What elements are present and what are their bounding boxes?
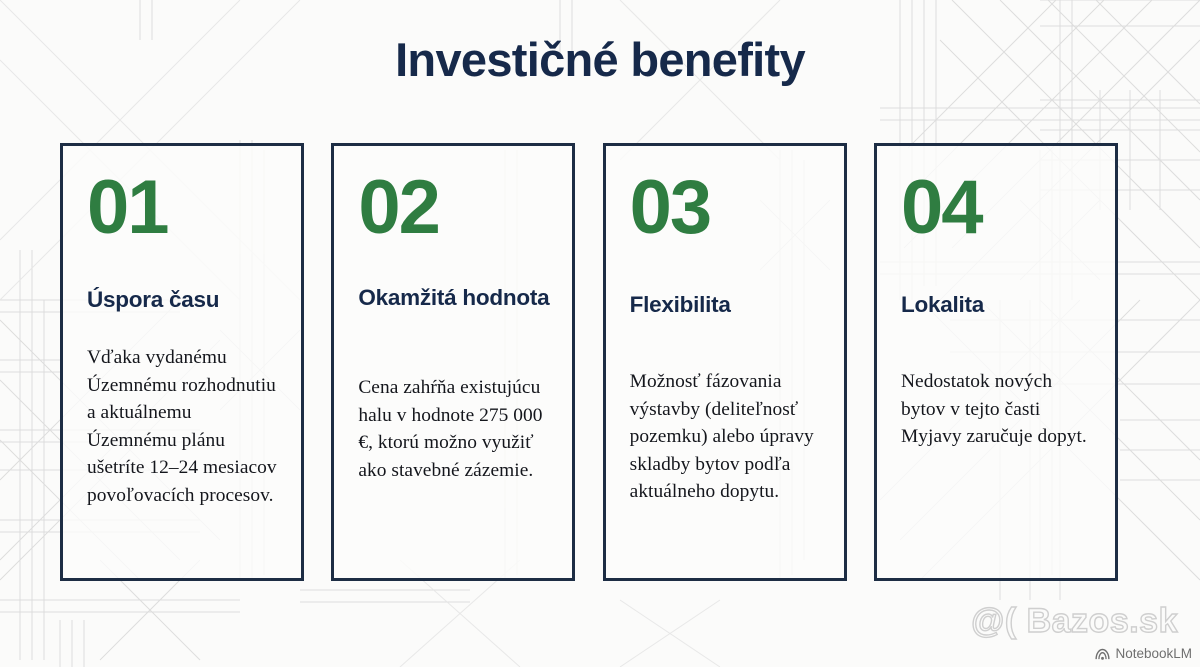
card-heading: Úspora času [87,284,287,315]
bazos-watermark: @( Bazos.sk [971,602,1178,640]
card-content: 01 Úspora času Vďaka vydanému Územnému r… [87,146,287,578]
card-number: 04 [901,164,982,252]
card-number: 01 [87,164,168,252]
card-content: 02 Okamžitá hodnota Cena zahŕňa existujú… [358,146,558,578]
benefit-card-3: 03 Flexibilita Možnosť fázovania výstavb… [603,143,847,581]
card-heading: Okamžitá hodnota [358,282,558,313]
benefit-card-2: 02 Okamžitá hodnota Cena zahŕňa existujú… [331,143,575,581]
card-heading: Lokalita [901,289,1101,320]
notebooklm-icon [1095,647,1110,661]
benefit-card-1: 01 Úspora času Vďaka vydanému Územnému r… [60,143,304,581]
benefit-cards-row: 01 Úspora času Vďaka vydanému Územnému r… [60,143,1118,581]
notebooklm-watermark: NotebookLM [1095,646,1192,662]
card-body-text: Cena zahŕňa existujúcu halu v hodnote 27… [358,374,556,484]
card-body-text: Vďaka vydanému Územnému rozhodnutiu a ak… [87,344,285,509]
card-content: 04 Lokalita Nedostatok nových bytov v te… [901,146,1101,578]
notebooklm-label: NotebookLM [1115,646,1192,662]
card-content: 03 Flexibilita Možnosť fázovania výstavb… [630,146,830,578]
page-title: Investičné benefity [0,31,1200,89]
card-body-text: Nedostatok nových bytov v tejto časti My… [901,368,1099,451]
card-heading: Flexibilita [630,289,830,320]
card-number: 02 [358,164,439,252]
slide-canvas: Investičné benefity 01 Úspora času Vďaka… [0,0,1200,667]
card-number: 03 [630,164,711,252]
card-body-text: Možnosť fázovania výstavby (deliteľnosť … [630,368,828,506]
benefit-card-4: 04 Lokalita Nedostatok nových bytov v te… [874,143,1118,581]
